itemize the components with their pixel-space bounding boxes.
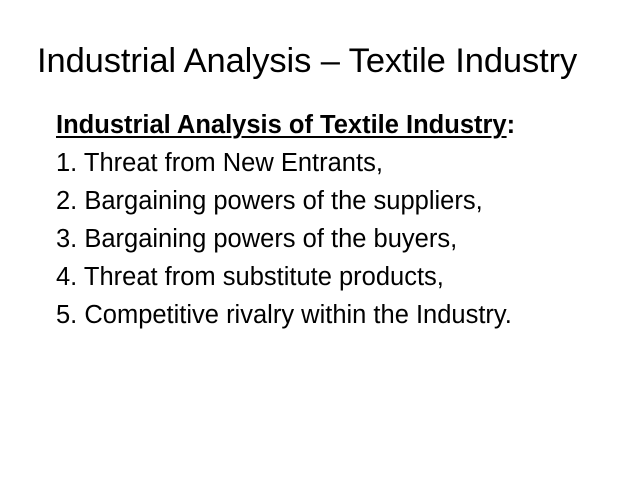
list-item: 2. Bargaining powers of the suppliers, — [56, 182, 616, 220]
body-lead-colon: : — [507, 111, 516, 139]
list-item: 3. Bargaining powers of the buyers, — [56, 220, 616, 258]
list-item: 1. Threat from New Entrants, — [56, 144, 616, 182]
slide-title: Industrial Analysis – Textile Industry — [37, 42, 607, 80]
body-lead-underlined-text: Industrial Analysis of Textile Industry — [56, 111, 507, 139]
list-item: 5. Competitive rivalry within the Indust… — [56, 296, 616, 334]
body-lead-line: Industrial Analysis of Textile Industry: — [56, 106, 616, 144]
slide-body: Industrial Analysis of Textile Industry:… — [56, 106, 616, 334]
slide-canvas: Industrial Analysis – Textile Industry I… — [0, 0, 638, 479]
list-item: 4. Threat from substitute products, — [56, 258, 616, 296]
